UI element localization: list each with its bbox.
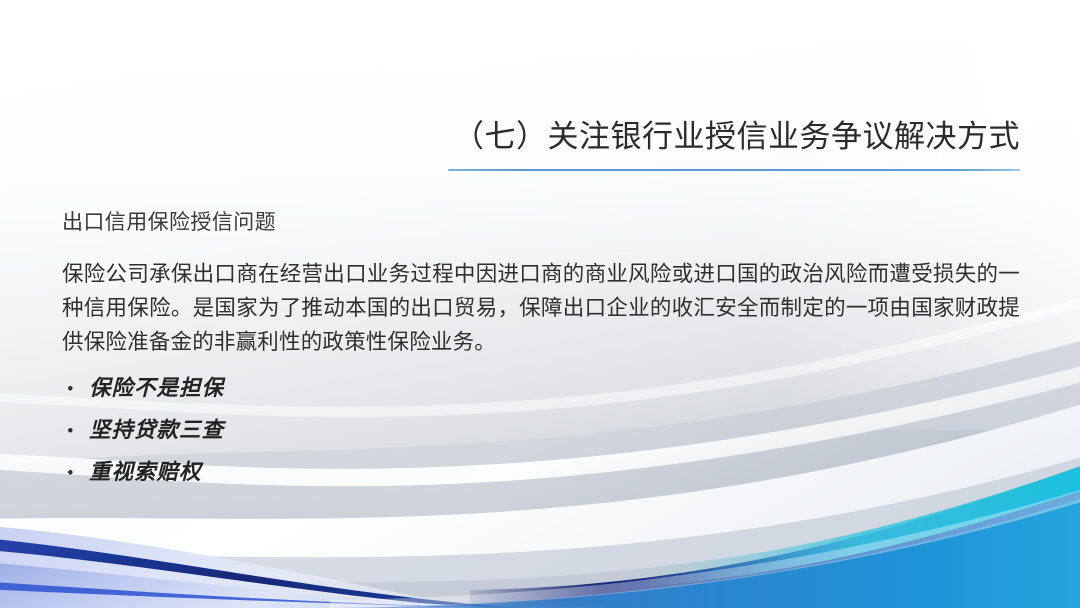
body-paragraph: 保险公司承保出口商在经营出口业务过程中因进口商的商业风险或进口国的政治风险而遭受… xyxy=(62,257,1020,359)
bullet-list: • 保险不是担保 • 坚持贷款三查 • 重视索赔权 xyxy=(62,375,1020,486)
slide-canvas: （七）关注银行业授信业务争议解决方式 出口信用保险授信问题 保险公司承保出口商在… xyxy=(0,0,1080,608)
bullet-dot-icon: • xyxy=(62,380,89,399)
list-item: • 重视索赔权 xyxy=(62,459,1020,486)
title-block: （七）关注银行业授信业务争议解决方式 xyxy=(448,118,1020,171)
bullet-dot-icon: • xyxy=(62,422,89,441)
title-underline-rule xyxy=(448,169,1020,171)
bullet-dot-icon: • xyxy=(62,464,89,483)
bullet-label: 重视索赔权 xyxy=(89,459,202,486)
content-block: 出口信用保险授信问题 保险公司承保出口商在经营出口业务过程中因进口商的商业风险或… xyxy=(62,210,1020,501)
page-title: （七）关注银行业授信业务争议解决方式 xyxy=(448,118,1020,156)
bullet-label: 保险不是担保 xyxy=(89,375,224,402)
list-item: • 保险不是担保 xyxy=(62,375,1020,402)
section-subheading: 出口信用保险授信问题 xyxy=(62,210,1020,235)
list-item: • 坚持贷款三查 xyxy=(62,417,1020,444)
bullet-label: 坚持贷款三查 xyxy=(89,417,224,444)
